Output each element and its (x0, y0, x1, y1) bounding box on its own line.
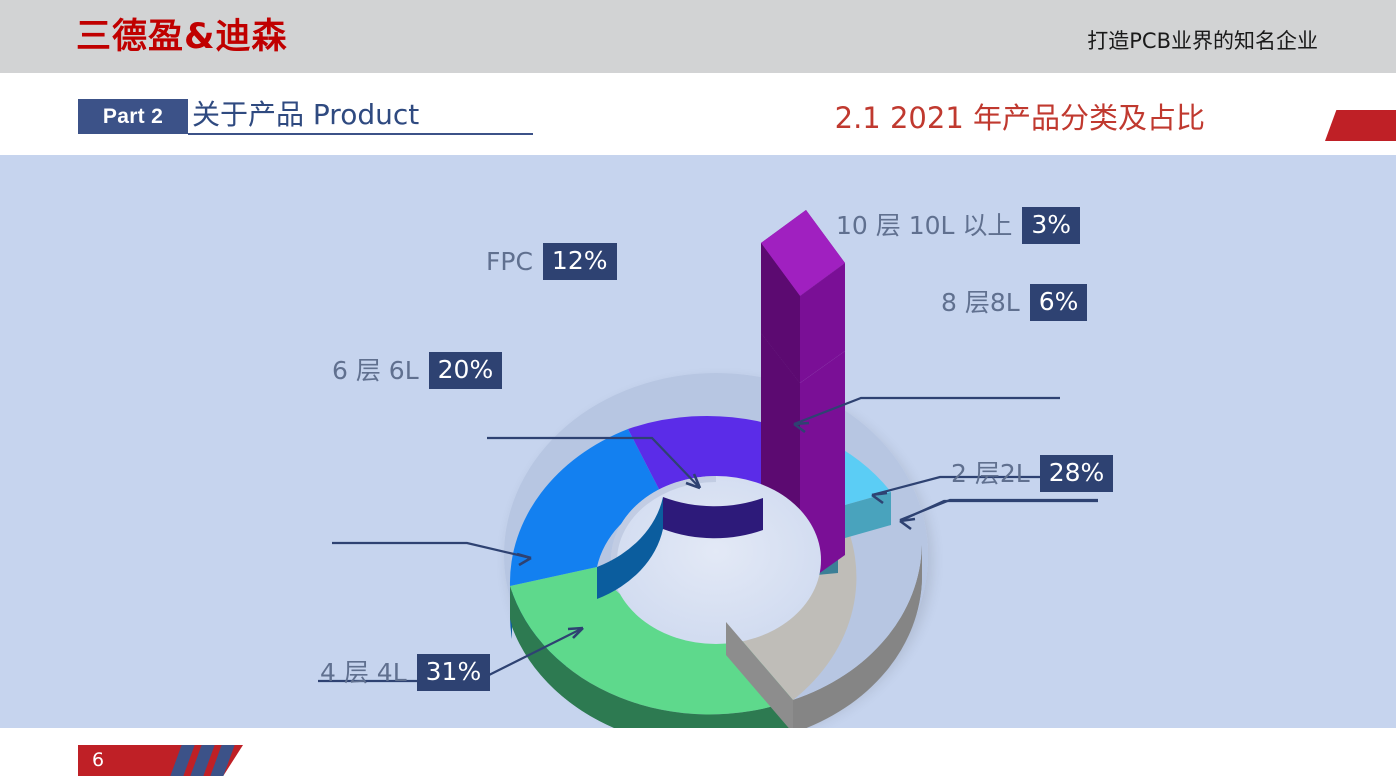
callout-4l-pct: 31% (417, 654, 491, 691)
callout-8l-pct: 6% (1030, 284, 1088, 321)
callout-fpc: FPC 12% (486, 243, 617, 280)
chart-panel: 10 层 10L 以上 3% 8 层8L 6% 2 层2L 28% FPC 12… (0, 155, 1396, 728)
pie-chart-3d-doughnut (0, 155, 1396, 728)
company-logo: 三德盈&迪森 (76, 17, 288, 57)
callout-fpc-label: FPC (486, 247, 533, 277)
slide: 三德盈&迪森 打造PCB业界的知名企业 Part 2 关于产品 Product … (0, 0, 1396, 776)
callout-6l-pct: 20% (429, 352, 503, 389)
callout-8l-label: 8 层8L (941, 288, 1020, 318)
part-title: 关于产品 Product (192, 96, 419, 134)
callout-10l-label: 10 层 10L 以上 (836, 211, 1012, 241)
callout-2l: 2 层2L 28% (951, 455, 1113, 492)
red-chevron-accent (1325, 110, 1396, 141)
callout-6l-label: 6 层 6L (332, 356, 419, 386)
leader-line-2l (900, 501, 1098, 529)
callout-6l: 6 层 6L 20% (332, 352, 502, 389)
callout-8l: 8 层8L 6% (941, 284, 1087, 321)
callout-10l-pct: 3% (1022, 207, 1080, 244)
callout-fpc-pct: 12% (543, 243, 617, 280)
callout-4l: 4 层 4L 31% (320, 654, 490, 691)
page-number: 6 (92, 748, 104, 773)
callout-2l-label: 2 层2L (951, 459, 1030, 489)
footer-page-badge: 6 (78, 745, 243, 776)
callout-2l-pct: 28% (1040, 455, 1114, 492)
section-number: 2.1 2021 年产品分类及占比 (835, 100, 1205, 136)
part-badge: Part 2 (78, 99, 188, 134)
part-underline (188, 133, 533, 135)
header-tagline: 打造PCB业界的知名企业 (1087, 28, 1318, 54)
callout-10l: 10 层 10L 以上 3% (836, 207, 1080, 244)
callout-4l-label: 4 层 4L (320, 658, 407, 688)
